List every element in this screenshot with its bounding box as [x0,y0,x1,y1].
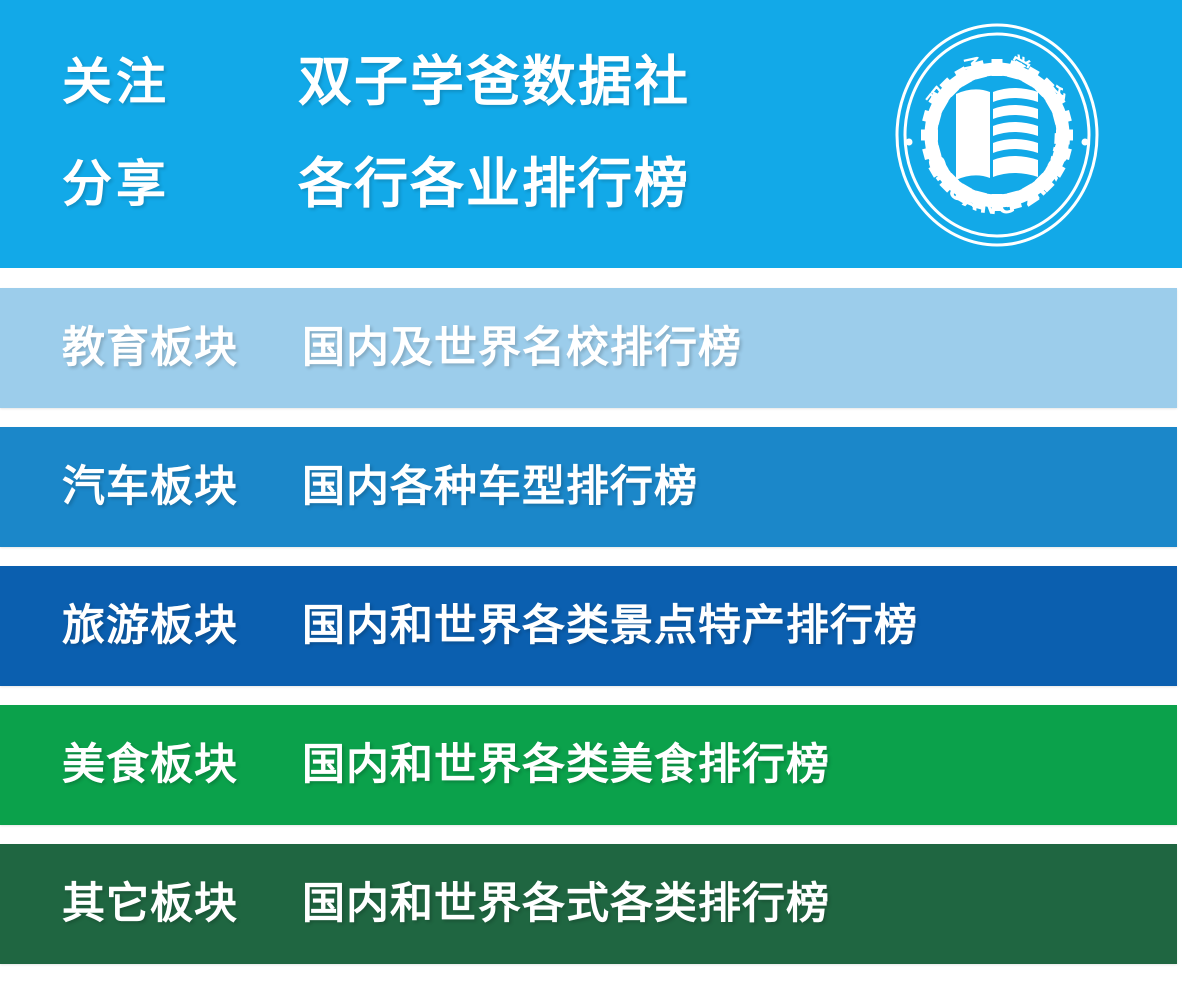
header-text-block: 关注 双子学爸数据社 分享 各行各业排行榜 [62,40,690,226]
seal-icon: 双子学爸 SHUANG ZI XUE BA [894,22,1100,248]
header-line-share: 分享 各行各业排行榜 [62,142,690,226]
header-banner: 关注 双子学爸数据社 分享 各行各业排行榜 [0,0,1182,268]
category-bar-travel[interactable]: 旅游板块 国内和世界各类景点特产排行榜 [0,566,1177,686]
category-label-travel: 旅游板块 [62,605,302,648]
poster-root: 关注 双子学爸数据社 分享 各行各业排行榜 [0,0,1182,976]
category-label-food: 美食板块 [62,744,302,787]
category-desc-automotive: 国内各种车型排行榜 [302,466,1177,509]
header-kicker-share: 分享 [62,159,298,209]
category-bar-education[interactable]: 教育板块 国内及世界名校排行榜 [0,288,1177,408]
header-kicker-follow: 关注 [62,57,298,107]
category-bar-food[interactable]: 美食板块 国内和世界各类美食排行榜 [0,705,1177,825]
category-desc-travel: 国内和世界各类景点特产排行榜 [302,605,1177,648]
seal-top-text: 双子学爸 [922,48,1079,129]
brand-seal-logo: 双子学爸 SHUANG ZI XUE BA [894,22,1100,248]
category-desc-other: 国内和世界各式各类排行榜 [302,883,1177,926]
category-label-automotive: 汽车板块 [62,466,302,509]
open-book-icon [956,88,1038,180]
category-label-other: 其它板块 [62,883,302,926]
seal-dot-right [1082,139,1089,146]
category-bar-list: 教育板块 国内及世界名校排行榜 汽车板块 国内各种车型排行榜 旅游板块 国内和世… [0,288,1177,983]
category-desc-food: 国内和世界各类美食排行榜 [302,744,1177,787]
seal-dot-left [906,139,913,146]
header-line-follow: 关注 双子学爸数据社 [62,40,690,124]
category-bar-other[interactable]: 其它板块 国内和世界各式各类排行榜 [0,844,1177,964]
category-desc-education: 国内及世界名校排行榜 [302,327,1177,370]
header-subtitle-rankings: 各行各业排行榜 [298,157,690,211]
header-title-account: 双子学爸数据社 [298,55,690,109]
category-bar-automotive[interactable]: 汽车板块 国内各种车型排行榜 [0,427,1177,547]
category-label-education: 教育板块 [62,327,302,370]
